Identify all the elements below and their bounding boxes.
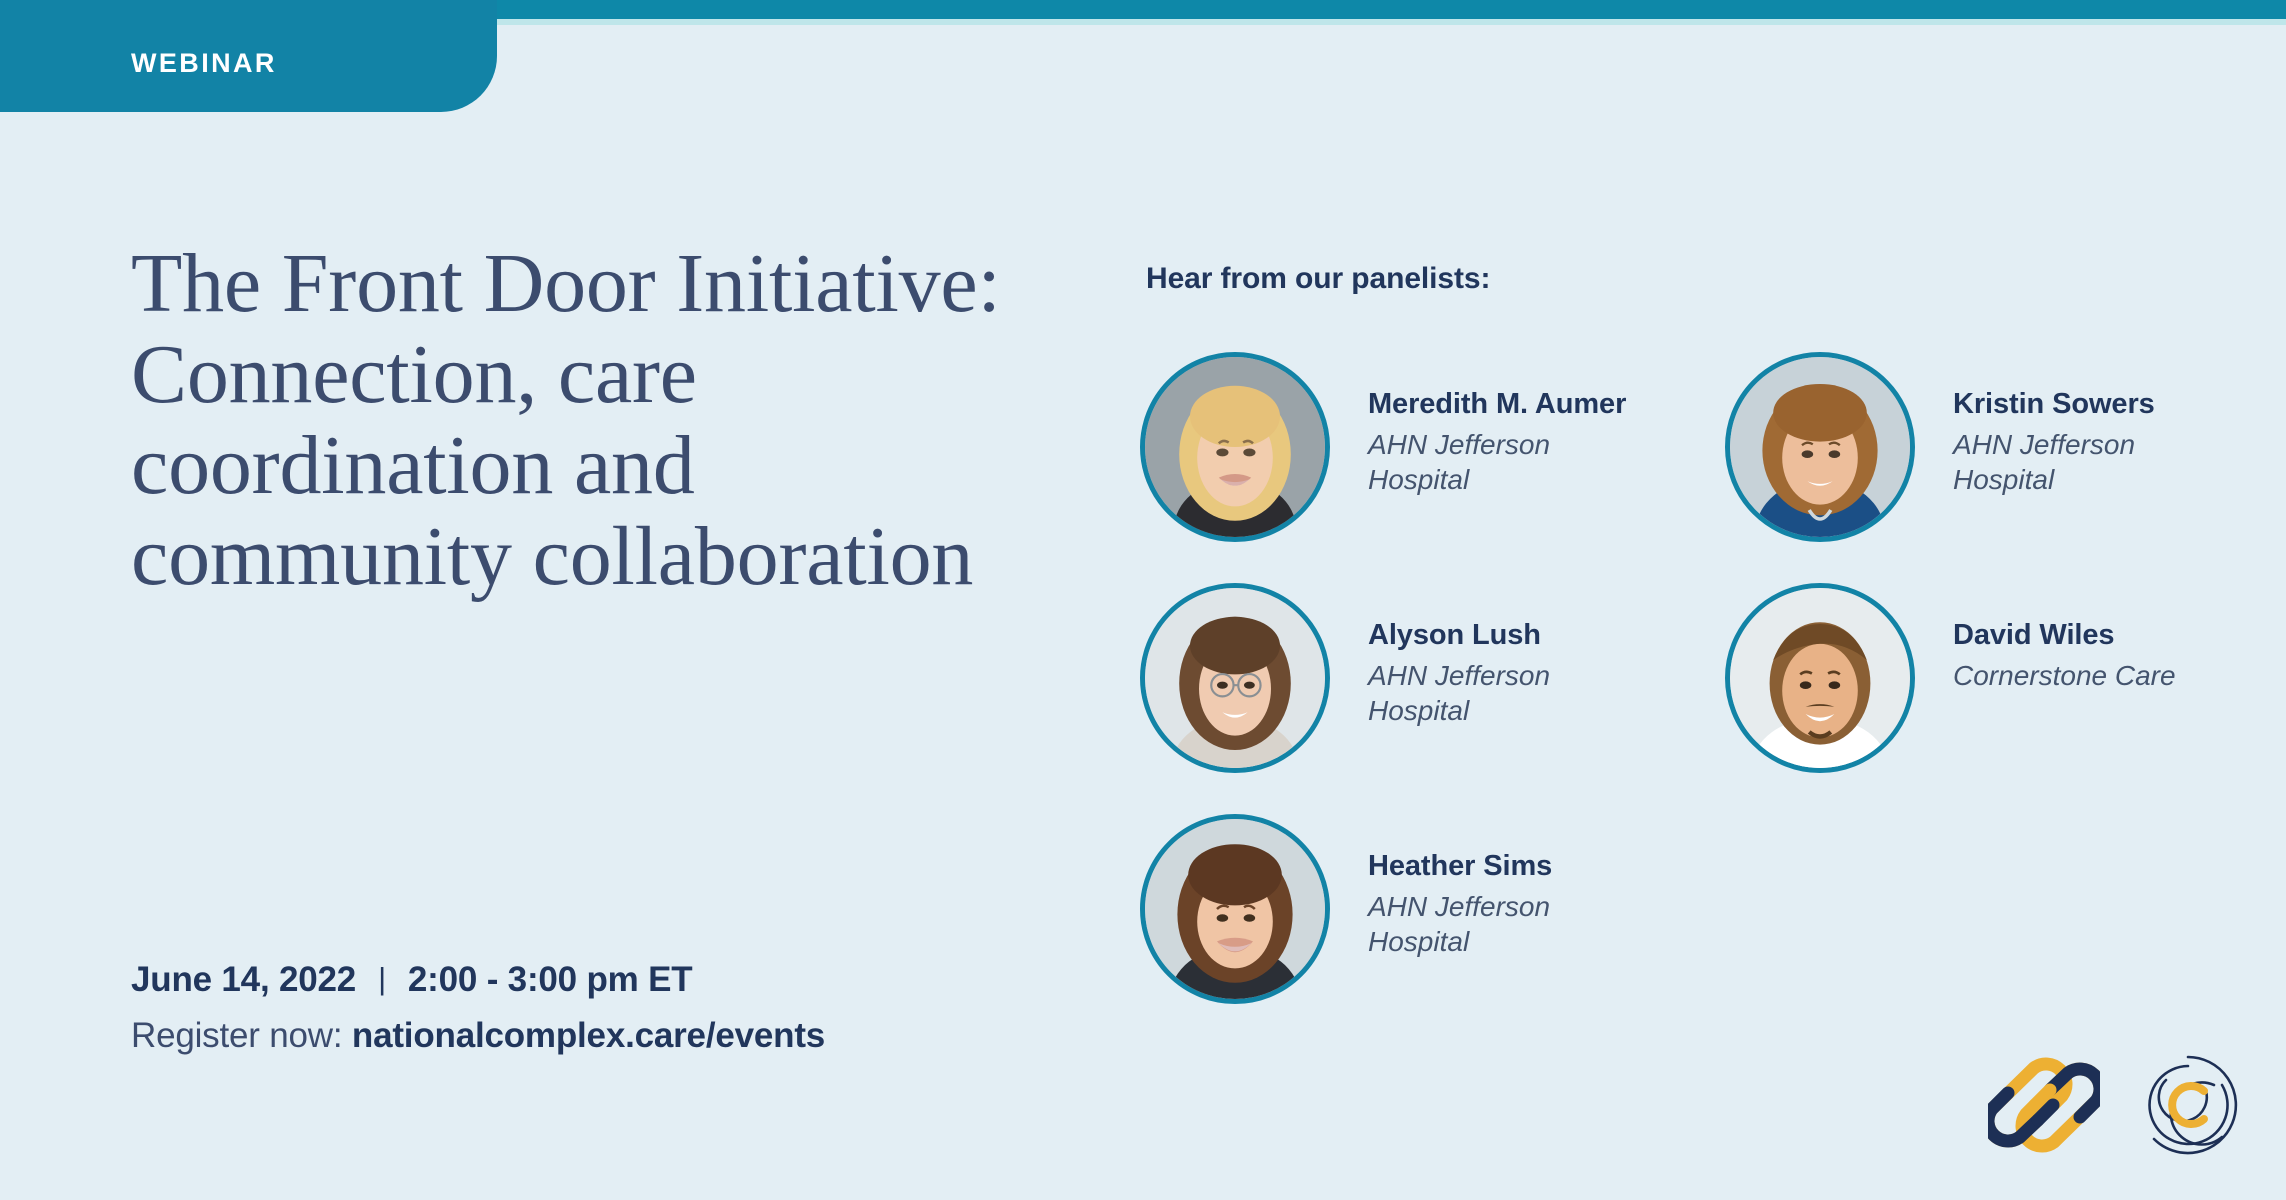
panelist-card: David Wiles Cornerstone Care [1725,583,2230,814]
panelists-heading: Hear from our panelists: [1146,262,1490,296]
panelist-org: AHN Jefferson Hospital [1368,890,1552,958]
portrait-kristin-sowers [1725,352,1915,542]
panelist-name: Heather Sims [1368,849,1552,884]
portrait-meredith-aumer [1140,352,1330,542]
panelist-org: AHN Jefferson Hospital [1368,659,1550,727]
panelist-name: Meredith M. Aumer [1368,387,1626,422]
page-title: The Front Door Initiative: Connection, c… [131,238,1061,603]
webinar-badge-label: WEBINAR [0,34,277,79]
panelist-info: Meredith M. Aumer AHN Jefferson Hospital [1330,352,1626,497]
panelist-card: Heather Sims AHN Jefferson Hospital [1140,814,1725,1045]
panelist-name: David Wiles [1953,618,2176,653]
panelist-card: Alyson Lush AHN Jefferson Hospital [1140,583,1725,814]
panelist-org: AHN Jefferson Hospital [1953,428,2155,496]
panelists-grid: Meredith M. Aumer AHN Jefferson Hospital… [1140,352,2230,1045]
portrait-alyson-lush [1140,583,1330,773]
panelist-name: Kristin Sowers [1953,387,2155,422]
portrait-david-wiles [1725,583,1915,773]
panelist-name: Alyson Lush [1368,618,1550,653]
panelist-info: Alyson Lush AHN Jefferson Hospital [1330,583,1550,728]
register-line: Register now: nationalcomplex.care/event… [131,1016,1131,1056]
event-time: 2:00 - 3:00 pm ET [408,960,692,1000]
interlocking-loops-logo [1988,1046,2100,1164]
panelist-card: Kristin Sowers AHN Jefferson Hospital [1725,352,2230,583]
headline-block: The Front Door Initiative: Connection, c… [131,238,1061,603]
panelist-org: Cornerstone Care [1953,659,2176,693]
event-details: June 14, 2022 | 2:00 - 3:00 pm ET Regist… [131,960,1131,1056]
portrait-heather-sims [1140,814,1330,1004]
register-url[interactable]: nationalcomplex.care/events [352,1016,825,1055]
webinar-badge: WEBINAR [0,0,497,112]
event-separator: | [356,961,408,997]
logo-group [1988,1046,2240,1164]
panelist-org: AHN Jefferson Hospital [1368,428,1626,496]
panelist-info: Heather Sims AHN Jefferson Hospital [1330,814,1552,959]
panelist-info: Kristin Sowers AHN Jefferson Hospital [1915,352,2155,497]
event-date: June 14, 2022 [131,960,356,1000]
concentric-rings-c-logo [2136,1053,2240,1157]
panelist-card: Meredith M. Aumer AHN Jefferson Hospital [1140,352,1725,583]
panelist-info: David Wiles Cornerstone Care [1915,583,2176,694]
register-prefix: Register now: [131,1016,352,1055]
event-date-time: June 14, 2022 | 2:00 - 3:00 pm ET [131,960,1131,1000]
